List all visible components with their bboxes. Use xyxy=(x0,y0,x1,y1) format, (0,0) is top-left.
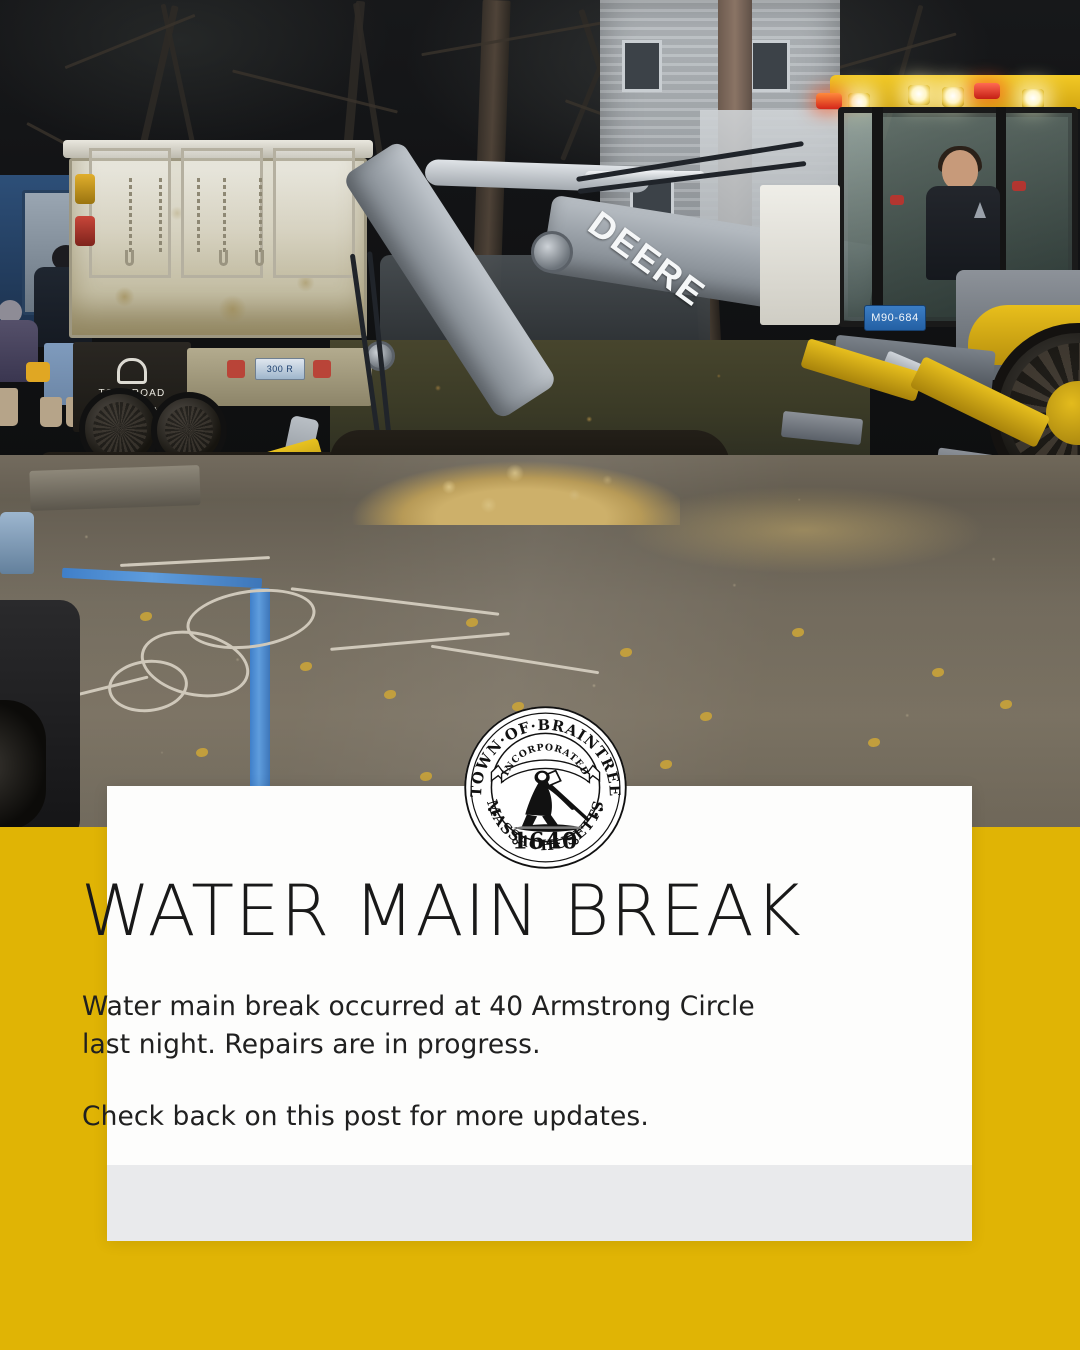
worker-glove xyxy=(26,362,50,382)
truck-hook xyxy=(125,250,134,266)
worker-kneeling xyxy=(0,300,52,430)
truck-chain xyxy=(197,178,200,254)
seal-year: 1640 xyxy=(512,828,578,854)
page-title: WATER MAIN BREAK xyxy=(81,876,881,946)
cab-marker-light xyxy=(1012,181,1026,191)
operator-head xyxy=(942,150,978,190)
boom-pivot-pin xyxy=(531,231,573,273)
toll-road-logo-icon xyxy=(117,358,147,384)
work-light xyxy=(1022,89,1044,109)
cab-marker-light xyxy=(890,195,904,205)
worker-boot xyxy=(0,388,18,426)
cab-pillar xyxy=(872,107,883,327)
backhoe-toolbox xyxy=(760,185,840,325)
parked-car-tire xyxy=(0,700,46,827)
machine-operator xyxy=(920,150,1010,280)
operator-jacket xyxy=(926,186,1000,280)
stabilizer-foot-pad xyxy=(781,411,863,445)
amber-beacon xyxy=(816,93,842,109)
truck-chain xyxy=(223,178,226,254)
red-beacon xyxy=(974,83,1000,99)
truck-rear-lamp xyxy=(227,360,245,378)
steel-road-plate xyxy=(29,465,200,511)
roadside-marker xyxy=(0,512,34,574)
paragraph-1-line-2: last night. Repairs are in progress. xyxy=(82,1026,842,1064)
paragraph-1-line-1: Water main break occurred at 40 Armstron… xyxy=(82,988,842,1026)
work-light xyxy=(908,85,930,105)
house-window xyxy=(622,40,662,92)
backhoe-license-plate: M90-684 xyxy=(864,305,926,331)
town-of-braintree-seal: TOWN·OF·BRAINTREE MASSACHUSETTS INCORPOR… xyxy=(461,703,630,872)
paragraph-spacer xyxy=(82,1064,842,1098)
poster-canvas: TOLL ROAD WHITMAN, MA. 300 R DEERE xyxy=(0,0,1080,1350)
truck-chain xyxy=(129,178,132,254)
truck-taillight-red xyxy=(75,216,95,246)
truck-taillight-amber xyxy=(75,174,95,204)
truck-chain xyxy=(159,178,162,254)
announcement-text: Water main break occurred at 40 Armstron… xyxy=(82,988,842,1136)
dirt-spread-on-road xyxy=(620,470,1080,590)
paragraph-2-line-1: Check back on this post for more updates… xyxy=(82,1098,842,1136)
work-light xyxy=(942,87,964,107)
truck-hook xyxy=(219,250,228,266)
card-footer-band xyxy=(107,1165,972,1241)
